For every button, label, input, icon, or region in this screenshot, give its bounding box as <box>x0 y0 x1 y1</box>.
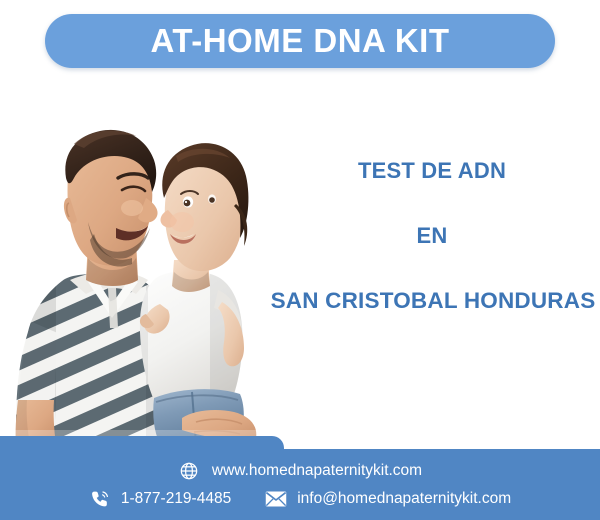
headline-block: TEST DE ADN EN SAN CRISTOBAL HONDURAS <box>258 160 600 313</box>
email-item[interactable]: info@homednapaternitykit.com <box>265 488 511 510</box>
footer-content: www.homednapaternitykit.com 1-877-219-44… <box>0 436 600 520</box>
page-title: AT-HOME DNA KIT <box>45 14 555 68</box>
footer-contact-bar: www.homednapaternitykit.com 1-877-219-44… <box>0 436 600 520</box>
footer-contact-row: 1-877-219-4485 info@homednapaternitykit.… <box>0 488 600 510</box>
globe-icon <box>178 460 200 482</box>
headline-spacer-2 <box>258 247 600 290</box>
email-label: info@homednapaternitykit.com <box>297 490 511 508</box>
header-banner: AT-HOME DNA KIT <box>45 14 555 68</box>
dna-test-poster: AT-HOME DNA KIT <box>0 0 600 520</box>
headline-spacer-1 <box>258 182 600 225</box>
headline-line-test: TEST DE ADN <box>258 160 600 182</box>
website-label: www.homednapaternitykit.com <box>212 462 422 480</box>
phone-label: 1-877-219-4485 <box>121 490 231 508</box>
phone-item[interactable]: 1-877-219-4485 <box>89 488 231 510</box>
phone-icon <box>89 488 111 510</box>
footer-website-row: www.homednapaternitykit.com <box>0 460 600 482</box>
envelope-icon <box>265 488 287 510</box>
headline-line-en: EN <box>258 225 600 247</box>
website-item[interactable]: www.homednapaternitykit.com <box>178 460 422 482</box>
headline-line-location: SAN CRISTOBAL HONDURAS <box>260 290 600 313</box>
